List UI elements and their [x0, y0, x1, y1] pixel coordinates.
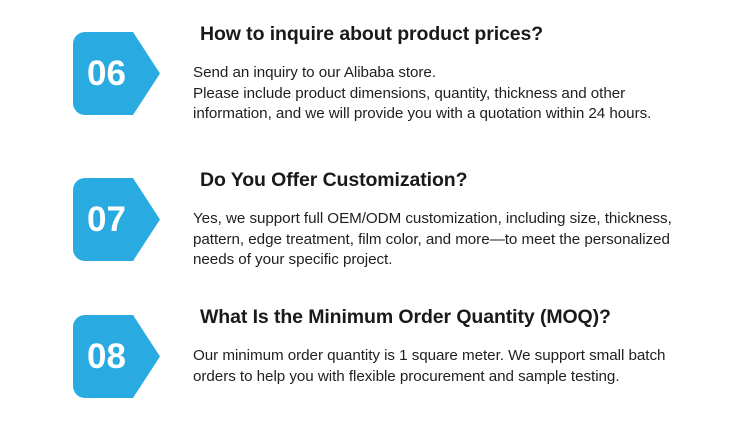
step-number-label: 07 — [73, 178, 140, 261]
faq-answer-line: Yes, we support full OEM/ODM customizati… — [193, 210, 672, 268]
step-number-label: 08 — [73, 315, 140, 398]
faq-answer-body: Our minimum order quantity is 1 square m… — [193, 329, 690, 387]
faq-question-heading: What Is the Minimum Order Quantity (MOQ)… — [193, 305, 693, 329]
faq-answer-body: Yes, we support full OEM/ODM customizati… — [193, 192, 690, 271]
faq-answer-body: Send an inquiry to our Alibaba store. Pl… — [193, 46, 690, 125]
step-number-badge: 06 — [73, 32, 160, 115]
step-number-badge: 07 — [73, 178, 160, 261]
step-number-label: 06 — [73, 32, 140, 115]
faq-text-column: How to inquire about product prices? Sen… — [193, 22, 693, 125]
faq-question-heading: How to inquire about product prices? — [193, 22, 693, 46]
faq-text-column: Do You Offer Customization? Yes, we supp… — [193, 168, 693, 271]
faq-answer-line: Our minimum order quantity is 1 square m… — [193, 347, 665, 385]
faq-answer-line: Send an inquiry to our Alibaba store. — [193, 63, 690, 84]
faq-page: 06 How to inquire about product prices? … — [0, 0, 750, 446]
faq-question-heading: Do You Offer Customization? — [193, 168, 693, 192]
faq-text-column: What Is the Minimum Order Quantity (MOQ)… — [193, 305, 693, 387]
step-number-badge: 08 — [73, 315, 160, 398]
faq-answer-line: Please include product dimensions, quant… — [193, 85, 651, 123]
